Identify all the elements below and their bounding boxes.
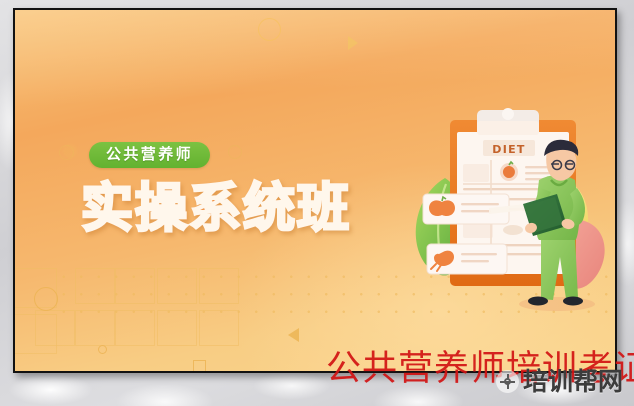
decor-square-2 [13, 314, 57, 354]
site-logo: 培训帮网 [496, 369, 623, 394]
decor-square-5 [157, 268, 197, 304]
course-banner: 公共营养师 实操系统班 [13, 8, 617, 373]
decor-square-tiny [193, 360, 206, 373]
decor-square-outline-big [34, 287, 58, 311]
decor-square-9 [115, 310, 155, 346]
decor-triangle-bottom [288, 328, 299, 342]
clipboard-diet-label: DIET [492, 143, 525, 156]
decor-square-7 [35, 310, 75, 346]
decor-ring-small-mid [228, 145, 242, 159]
compass-icon [496, 370, 519, 393]
decor-square-1 [13, 268, 57, 308]
decor-ring-small-left [59, 145, 74, 160]
decor-square-6 [199, 268, 239, 304]
page-title: 实操系统班 [81, 183, 351, 235]
decor-square-11 [199, 310, 239, 346]
decor-square-8 [75, 310, 115, 346]
illustration-nutritionist: DIET [405, 88, 617, 323]
site-logo-text: 培训帮网 [523, 369, 623, 394]
decor-square-10 [157, 310, 197, 346]
decor-triangle-top [348, 36, 358, 50]
badge-public-nutritionist: 公共营养师 [89, 142, 210, 168]
decor-square-3 [75, 268, 115, 304]
decor-circle-tiny [98, 345, 107, 354]
decor-dot-blur-left [63, 144, 77, 158]
decor-ring-top [258, 18, 281, 41]
decor-square-4 [115, 268, 155, 304]
card-chicken [427, 244, 507, 274]
